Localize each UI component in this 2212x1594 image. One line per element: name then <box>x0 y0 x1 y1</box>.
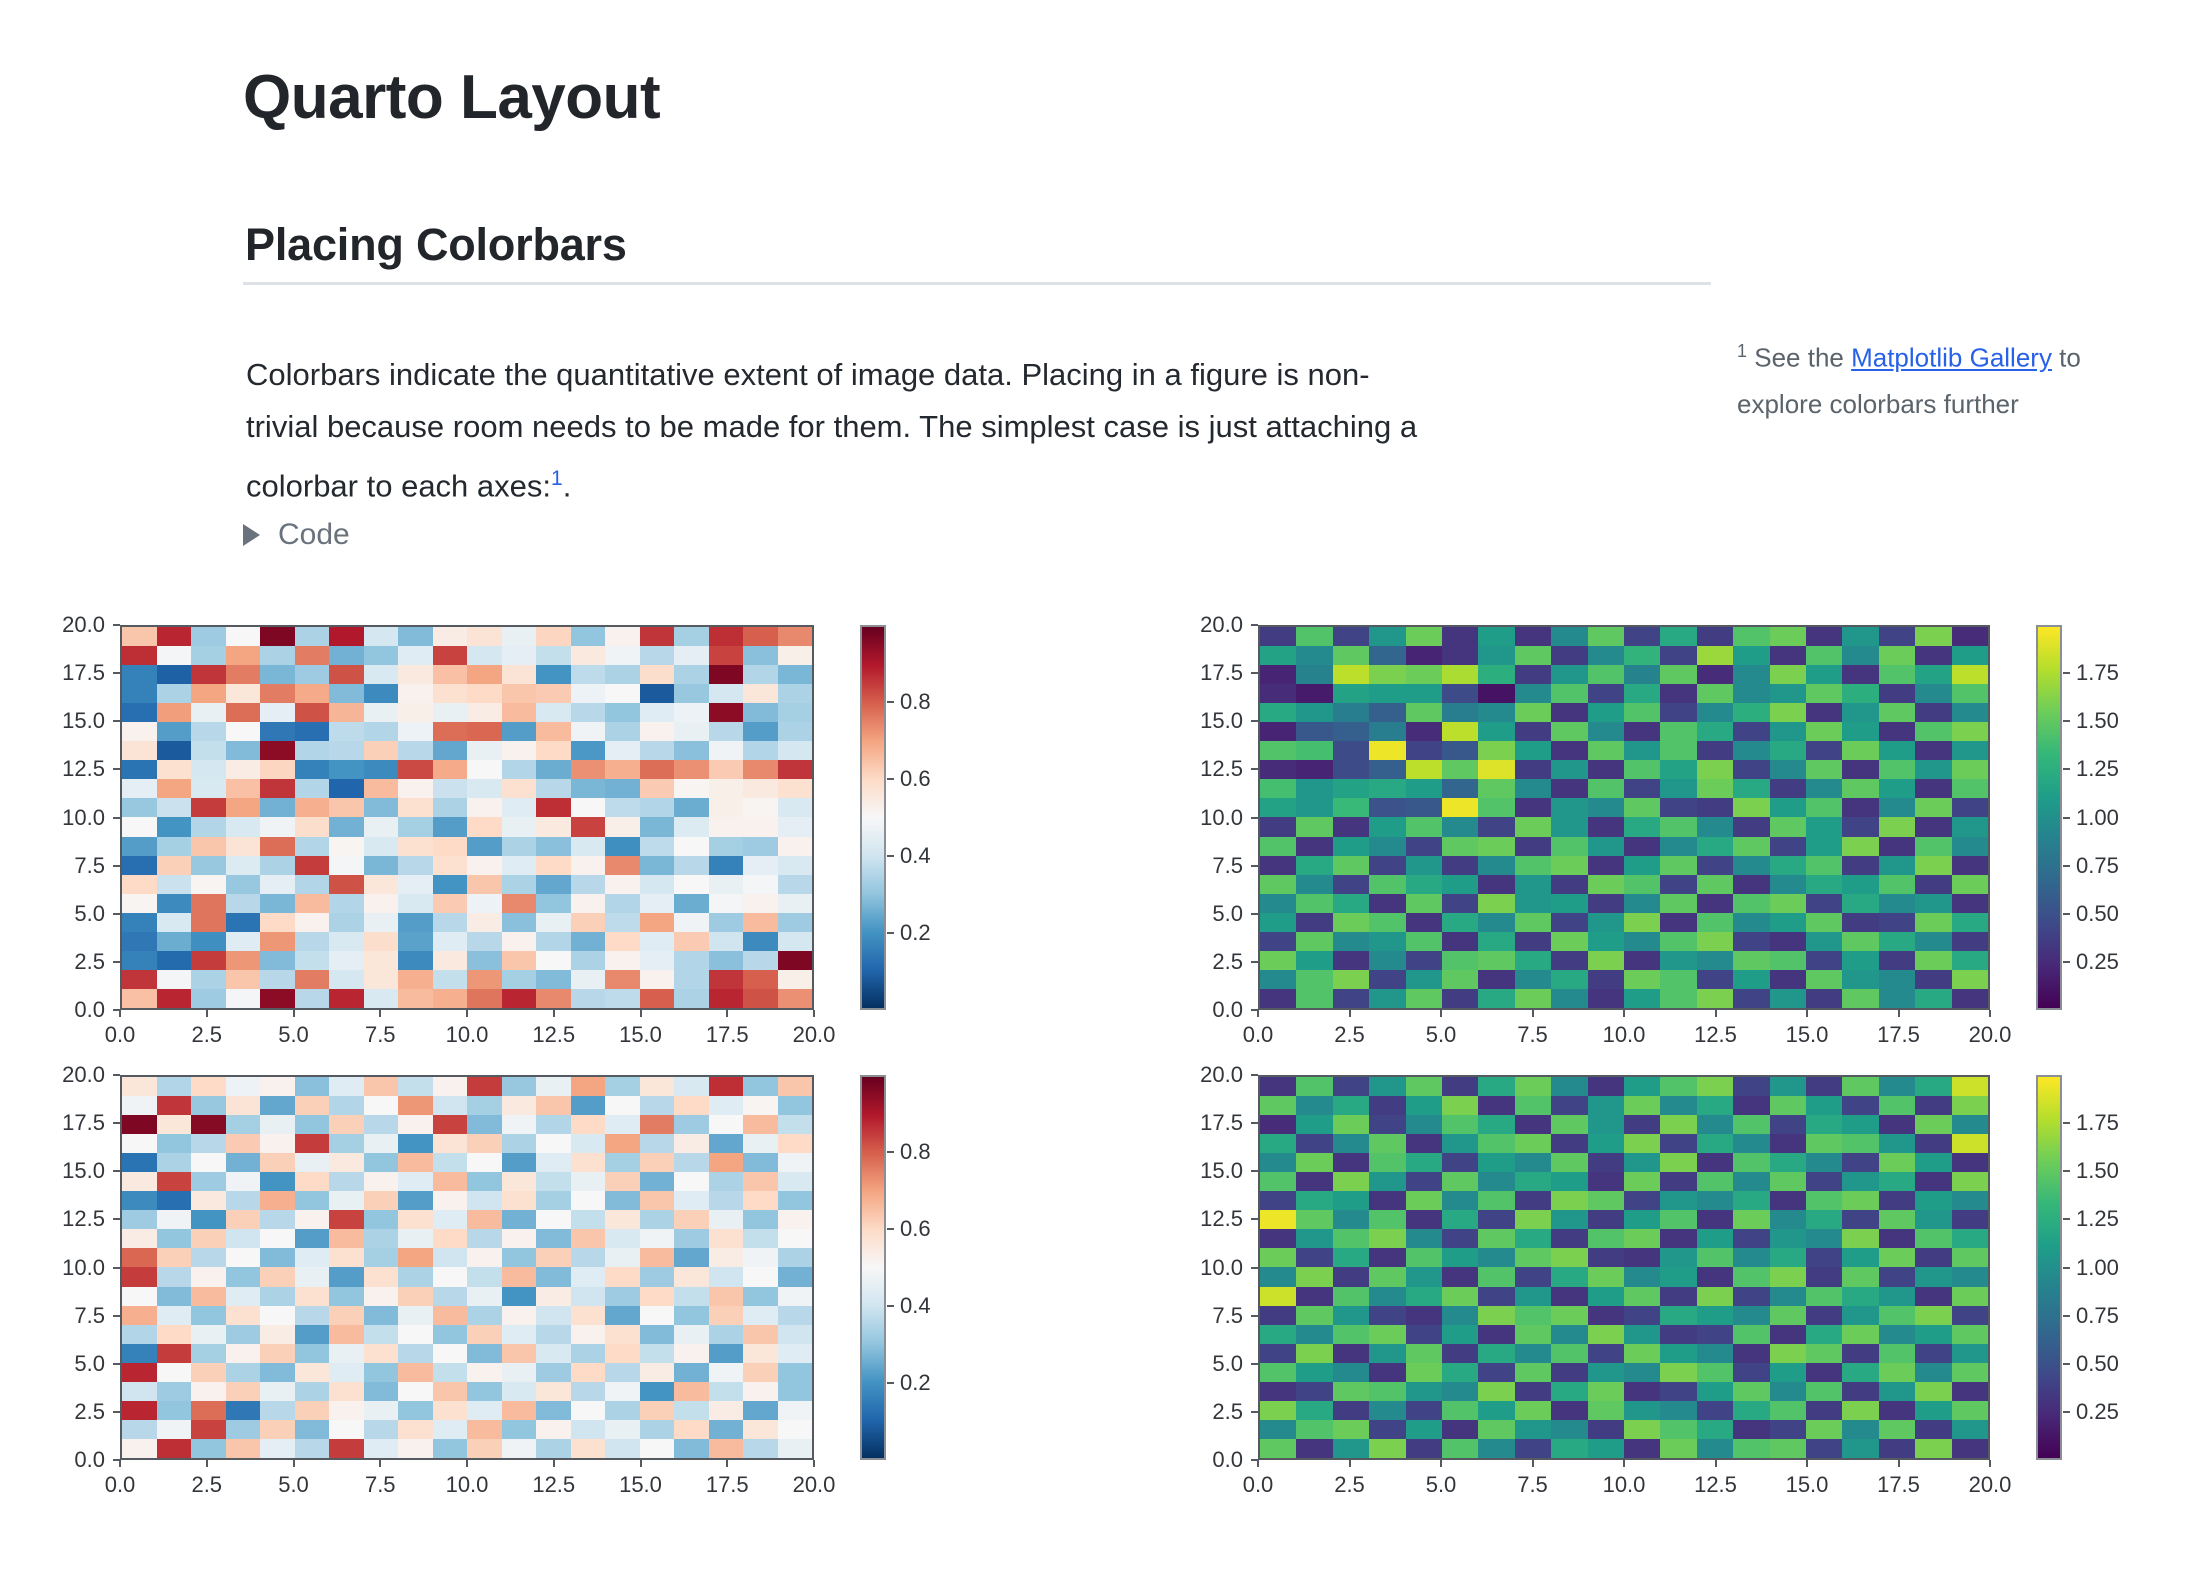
heatmap-cell <box>536 646 571 665</box>
x-axis-tick-label: 10.0 <box>446 1022 489 1048</box>
heatmap-cell <box>571 1248 606 1267</box>
heatmap-cell <box>571 1267 606 1286</box>
heatmap-cell <box>191 1363 226 1382</box>
heatmap-cell <box>1406 1344 1442 1363</box>
x-axis-tickmark <box>1715 1010 1717 1017</box>
heatmap-cell <box>364 1191 399 1210</box>
heatmap-cell <box>1624 703 1660 722</box>
heatmap-cell <box>1697 1096 1733 1115</box>
heatmap-cell <box>398 894 433 913</box>
heatmap-cell <box>122 970 157 989</box>
heatmap-cell <box>1660 913 1696 932</box>
heatmap-cell <box>1588 1267 1624 1286</box>
heatmap-cell <box>709 1420 744 1439</box>
heatmap-cell <box>1770 741 1806 760</box>
heatmap-cell <box>260 760 295 779</box>
heatmap-cell <box>778 665 813 684</box>
heatmap-cell <box>1733 646 1769 665</box>
colorbar-tick-label: 0.2 <box>900 920 931 946</box>
heatmap-cell <box>743 1325 778 1344</box>
heatmap-cell <box>191 856 226 875</box>
heatmap-cell <box>122 1096 157 1115</box>
heatmap-cell <box>1660 817 1696 836</box>
heatmap-cell <box>122 1077 157 1096</box>
heatmap-cell <box>1806 760 1842 779</box>
heatmap-cell <box>1952 646 1988 665</box>
axes-area <box>1258 1075 1990 1460</box>
heatmap-cell <box>398 1096 433 1115</box>
heatmap-cell <box>295 913 330 932</box>
heatmap-cell <box>1515 627 1551 646</box>
y-axis-tickmark <box>113 1363 120 1365</box>
x-axis-tick-label: 7.5 <box>1517 1022 1548 1048</box>
y-axis-tickmark <box>1251 817 1258 819</box>
heatmap-cell <box>157 1287 192 1306</box>
heatmap-cell <box>1515 970 1551 989</box>
colorbar-tick-label: 1.00 <box>2076 1255 2119 1281</box>
heatmap-cell <box>1915 722 1951 741</box>
y-axis-tickmark <box>113 1267 120 1269</box>
heatmap-cell <box>1296 1096 1332 1115</box>
y-axis-tickmark <box>1251 1218 1258 1220</box>
heatmap-cell <box>1624 856 1660 875</box>
heatmap-cell <box>364 856 399 875</box>
heatmap-cell <box>260 856 295 875</box>
heatmap-cell <box>1260 1115 1296 1134</box>
heatmap-cell <box>1879 703 1915 722</box>
heatmap-cell <box>1333 627 1369 646</box>
heatmap-cell <box>191 1172 226 1191</box>
y-axis-tick-label: 0.0 <box>1163 1447 1243 1473</box>
heatmap-cell <box>1697 1420 1733 1439</box>
heatmap-cell <box>743 875 778 894</box>
heatmap-cell <box>502 1191 537 1210</box>
heatmap-cell <box>605 1420 640 1439</box>
heatmap-cell <box>1296 1382 1332 1401</box>
heatmap-cell <box>1879 1401 1915 1420</box>
heatmap-cell <box>640 722 675 741</box>
heatmap-cell <box>191 1229 226 1248</box>
heatmap-cell <box>191 894 226 913</box>
y-axis-tick-label: 5.0 <box>1163 1351 1243 1377</box>
heatmap-cell <box>364 646 399 665</box>
code-fold-toggle[interactable]: Code <box>243 518 350 552</box>
heatmap-cell <box>1915 665 1951 684</box>
heatmap-cell <box>674 665 709 684</box>
heatmap-cell <box>226 798 261 817</box>
heatmap-cell <box>1915 1420 1951 1439</box>
heatmap-cell <box>1915 817 1951 836</box>
y-axis-tick-label: 20.0 <box>1163 1062 1243 1088</box>
heatmap-cell <box>709 837 744 856</box>
heatmap-cell <box>1842 779 1878 798</box>
heatmap-cell <box>1333 703 1369 722</box>
heatmap-cell <box>1478 1134 1514 1153</box>
heatmap-cell <box>1842 798 1878 817</box>
heatmap-cell <box>467 1401 502 1420</box>
heatmap-cell <box>398 779 433 798</box>
heatmap-cell <box>467 684 502 703</box>
heatmap-cell <box>1588 875 1624 894</box>
heatmap-cell <box>1260 1267 1296 1286</box>
heatmap-cell <box>605 1306 640 1325</box>
heatmap-cell <box>1588 1401 1624 1420</box>
heatmap-cell <box>536 837 571 856</box>
heatmap-cell <box>1260 627 1296 646</box>
heatmap-cell <box>1588 932 1624 951</box>
heatmap-cell <box>1260 684 1296 703</box>
heatmap-cell <box>502 1325 537 1344</box>
heatmap-cell <box>1478 1439 1514 1458</box>
heatmap-cell <box>571 1439 606 1458</box>
heatmap-cell <box>1806 703 1842 722</box>
heatmap-cell <box>1551 856 1587 875</box>
heatmap-cell <box>1697 875 1733 894</box>
heatmap-cell <box>536 760 571 779</box>
heatmap-cell <box>571 1306 606 1325</box>
heatmap-cell <box>191 684 226 703</box>
x-axis-tick-label: 10.0 <box>446 1472 489 1498</box>
heatmap-cell <box>1915 798 1951 817</box>
heatmap-cell <box>536 1210 571 1229</box>
heatmap-cell <box>1260 665 1296 684</box>
heatmap-cell <box>364 665 399 684</box>
heatmap-cell <box>1915 1382 1951 1401</box>
heatmap-cell <box>536 798 571 817</box>
heatmap-cell <box>1369 741 1405 760</box>
heatmap-cell <box>398 1210 433 1229</box>
heatmap-cell <box>571 1210 606 1229</box>
heatmap-cell <box>1915 1325 1951 1344</box>
heatmap-cell <box>157 1191 192 1210</box>
heatmap-cell <box>1770 1229 1806 1248</box>
heatmap-cell <box>1660 1229 1696 1248</box>
heatmap-cell <box>1770 1306 1806 1325</box>
heatmap-cell <box>1952 1077 1988 1096</box>
heatmap-cell <box>433 1401 468 1420</box>
heatmap-cell <box>1624 989 1660 1008</box>
heatmap-cell <box>1842 741 1878 760</box>
heatmap-cell <box>260 1134 295 1153</box>
heatmap-cell <box>709 1134 744 1153</box>
heatmap-cell <box>122 684 157 703</box>
heatmap-cell <box>1770 1210 1806 1229</box>
y-axis-tick-label: 17.5 <box>1163 1110 1243 1136</box>
heatmap-cell <box>329 646 364 665</box>
heatmap-cell <box>1733 1191 1769 1210</box>
heatmap-cell <box>709 1325 744 1344</box>
heatmap-cell <box>1551 760 1587 779</box>
heatmap-cell <box>1478 1210 1514 1229</box>
heatmap-cell <box>1260 875 1296 894</box>
x-axis-tickmark <box>119 1460 121 1467</box>
heatmap-cell <box>778 837 813 856</box>
heatmap-cell <box>1369 1267 1405 1286</box>
heatmap-cell <box>709 1077 744 1096</box>
heatmap-cell <box>640 1172 675 1191</box>
heatmap-cell <box>122 1267 157 1286</box>
heatmap-cell <box>709 779 744 798</box>
heatmap-cell <box>364 798 399 817</box>
heatmap-cell <box>157 1439 192 1458</box>
heatmap-cell <box>640 798 675 817</box>
heatmap-cell <box>1952 627 1988 646</box>
heatmap-cell <box>640 684 675 703</box>
heatmap-cell <box>1733 1382 1769 1401</box>
heatmap-cell <box>1369 1344 1405 1363</box>
heatmap-cell <box>502 932 537 951</box>
heatmap-cell <box>1697 951 1733 970</box>
heatmap-cell <box>778 1267 813 1286</box>
heatmap-cell <box>1515 989 1551 1008</box>
heatmap-cell <box>778 1077 813 1096</box>
heatmap-cell <box>502 989 537 1008</box>
heatmap-cell <box>1406 665 1442 684</box>
heatmap-cell <box>122 951 157 970</box>
heatmap-cell <box>605 627 640 646</box>
heatmap-cell <box>1770 837 1806 856</box>
y-axis-tick-label: 0.0 <box>1163 997 1243 1023</box>
heatmap-cell <box>1515 1363 1551 1382</box>
heatmap-cell <box>1406 1439 1442 1458</box>
heatmap-cell <box>1406 837 1442 856</box>
heatmap-cell <box>1952 1401 1988 1420</box>
heatmap-cell <box>1333 1363 1369 1382</box>
heatmap-cell <box>1333 1248 1369 1267</box>
heatmap-cell <box>640 1401 675 1420</box>
heatmap-cell <box>1588 1306 1624 1325</box>
heatmap-cell <box>1551 1115 1587 1134</box>
heatmap-cell <box>1296 837 1332 856</box>
heatmap-cell <box>1952 1325 1988 1344</box>
heatmap-cell <box>260 1420 295 1439</box>
heatmap-cell <box>1406 894 1442 913</box>
heatmap-cell <box>467 1382 502 1401</box>
heatmap-cell <box>1624 1382 1660 1401</box>
heatmap-cell <box>1260 856 1296 875</box>
heatmap-cell <box>1369 665 1405 684</box>
heatmap-cell <box>709 817 744 836</box>
heatmap-cell <box>502 1363 537 1382</box>
y-axis-tick-label: 2.5 <box>1163 1399 1243 1425</box>
heatmap-cell <box>1588 1191 1624 1210</box>
heatmap-cell <box>398 798 433 817</box>
heatmap-cell <box>1406 1172 1442 1191</box>
heatmap-cell <box>1697 1287 1733 1306</box>
y-axis-tick-label: 17.5 <box>25 660 105 686</box>
heatmap-cell <box>122 932 157 951</box>
heatmap-cell <box>1588 1344 1624 1363</box>
heatmap-cell <box>1806 1306 1842 1325</box>
heatmap-cell <box>1624 1439 1660 1458</box>
heatmap-cell <box>1879 1229 1915 1248</box>
heatmap-cell <box>1624 1134 1660 1153</box>
heatmap-cell <box>364 1210 399 1229</box>
heatmap-cell <box>1842 989 1878 1008</box>
heatmap-cell <box>1879 1439 1915 1458</box>
heatmap-cell <box>778 1344 813 1363</box>
heatmap-cell <box>743 1401 778 1420</box>
heatmap-cell <box>295 932 330 951</box>
heatmap-cell <box>1551 1077 1587 1096</box>
heatmap-cell <box>709 1344 744 1363</box>
heatmap-cell <box>1806 970 1842 989</box>
heatmap-cell <box>1442 1248 1478 1267</box>
heatmap-cell <box>1478 741 1514 760</box>
heatmap-cell <box>1770 875 1806 894</box>
heatmap-cell <box>571 760 606 779</box>
heatmap-cell <box>1697 817 1733 836</box>
y-axis-tickmark <box>113 817 120 819</box>
heatmap-cell <box>674 1077 709 1096</box>
y-axis-tick-label: 0.0 <box>25 1447 105 1473</box>
heatmap-cell <box>157 684 192 703</box>
y-axis-tickmark <box>113 624 120 626</box>
heatmap-cell <box>1915 1191 1951 1210</box>
heatmap-cell <box>1624 817 1660 836</box>
heatmap-cell <box>1842 1172 1878 1191</box>
heatmap-cell <box>1697 856 1733 875</box>
x-axis-tick-label: 17.5 <box>1877 1022 1920 1048</box>
heatmap-cell <box>1551 1134 1587 1153</box>
heatmap-cell <box>1842 970 1878 989</box>
colorbar-tickmark <box>887 1305 894 1307</box>
heatmap-cell <box>1842 1420 1878 1439</box>
heatmap-cell <box>605 1267 640 1286</box>
colorbar-tickmark <box>2063 1267 2070 1269</box>
heatmap-cell <box>467 875 502 894</box>
heatmap-cell <box>260 684 295 703</box>
heatmap-cell <box>226 1420 261 1439</box>
paragraph-text: Colorbars indicate the quantitative exte… <box>246 357 1417 503</box>
heatmap-cell <box>433 817 468 836</box>
heatmap-cell <box>122 913 157 932</box>
heatmap-cell <box>1515 913 1551 932</box>
y-axis-tickmark <box>113 1074 120 1076</box>
heatmap-cell <box>502 875 537 894</box>
heatmap-cell <box>1952 856 1988 875</box>
x-axis-tickmark <box>293 1460 295 1467</box>
heatmap-cell <box>191 989 226 1008</box>
x-axis-tickmark <box>1898 1010 1900 1017</box>
heatmap-cell <box>1333 1287 1369 1306</box>
heatmap-cell <box>433 1077 468 1096</box>
heatmap-cell <box>605 1287 640 1306</box>
x-axis-tick-label: 15.0 <box>619 1472 662 1498</box>
heatmap-cell <box>536 1267 571 1286</box>
heatmap-cell <box>157 989 192 1008</box>
heatmap-cell <box>329 989 364 1008</box>
heatmap-cell <box>743 837 778 856</box>
heatmap-cell <box>364 703 399 722</box>
heatmap-cell <box>260 1344 295 1363</box>
heatmap-cell <box>1515 646 1551 665</box>
heatmap-cell <box>1588 1420 1624 1439</box>
heatmap-cell <box>122 1134 157 1153</box>
heatmap-cell <box>329 1115 364 1134</box>
heatmap-cell <box>1260 1344 1296 1363</box>
y-axis-tick-label: 2.5 <box>1163 949 1243 975</box>
heatmap-cell <box>157 646 192 665</box>
heatmap-cell <box>1952 1115 1988 1134</box>
heatmap-cell <box>467 1191 502 1210</box>
heatmap-cell <box>536 1306 571 1325</box>
heatmap-cell <box>1551 817 1587 836</box>
heatmap-cell <box>674 932 709 951</box>
heatmap-cell <box>502 817 537 836</box>
heatmap-cell <box>1478 875 1514 894</box>
heatmap-cell <box>1588 627 1624 646</box>
heatmap-cell <box>1879 665 1915 684</box>
heatmap-cell <box>191 913 226 932</box>
heatmap-cell <box>122 1363 157 1382</box>
heatmap-cell <box>1915 760 1951 779</box>
heatmap-cell <box>1588 1210 1624 1229</box>
heatmap-cell <box>1770 1401 1806 1420</box>
heatmap-cell <box>1952 665 1988 684</box>
heatmap-cell <box>157 1267 192 1286</box>
heatmap-cell <box>1733 1401 1769 1420</box>
heatmap-cell <box>1333 951 1369 970</box>
heatmap-cell <box>1296 1267 1332 1286</box>
y-axis-tickmark <box>113 1218 120 1220</box>
heatmap-cell <box>640 1363 675 1382</box>
heatmap-cell <box>433 1382 468 1401</box>
heatmap-cell <box>674 703 709 722</box>
x-axis-tickmark <box>1257 1010 1259 1017</box>
heatmap-cell <box>1806 1153 1842 1172</box>
heatmap-cell <box>1660 856 1696 875</box>
heatmap-cell <box>226 817 261 836</box>
heatmap-grid <box>122 1077 812 1458</box>
heatmap-grid <box>122 627 812 1008</box>
matplotlib-gallery-link[interactable]: Matplotlib Gallery <box>1851 343 2052 373</box>
heatmap-cell <box>1369 703 1405 722</box>
heatmap-cell <box>1915 1172 1951 1191</box>
heatmap-cell <box>1770 1077 1806 1096</box>
heatmap-cell <box>1369 1306 1405 1325</box>
heatmap-cell <box>1369 1363 1405 1382</box>
heatmap-cell <box>1660 1344 1696 1363</box>
footnote-reference-link[interactable]: 1 <box>551 467 563 490</box>
y-axis-tick-label: 15.0 <box>25 708 105 734</box>
heatmap-cell <box>1442 1134 1478 1153</box>
heatmap-cell <box>1515 837 1551 856</box>
y-axis-tickmark <box>1251 913 1258 915</box>
heatmap-cell <box>191 1344 226 1363</box>
colorbar-tickmark <box>2063 1218 2070 1220</box>
heatmap-cell <box>709 1191 744 1210</box>
heatmap-cell <box>1915 951 1951 970</box>
heatmap-cell <box>1842 627 1878 646</box>
heatmap-cell <box>1588 1382 1624 1401</box>
heatmap-cell <box>1442 1287 1478 1306</box>
heatmap-cell <box>433 1325 468 1344</box>
heatmap-cell <box>1442 760 1478 779</box>
heatmap-cell <box>536 932 571 951</box>
heatmap-cell <box>1770 1287 1806 1306</box>
heatmap-cell <box>122 779 157 798</box>
heatmap-cell <box>226 703 261 722</box>
y-axis-tick-label: 15.0 <box>25 1158 105 1184</box>
heatmap-cell <box>1406 798 1442 817</box>
heatmap-cell <box>364 932 399 951</box>
heatmap-cell <box>1624 1420 1660 1439</box>
heatmap-cell <box>191 741 226 760</box>
heatmap-cell <box>1660 1267 1696 1286</box>
heatmap-cell <box>1369 989 1405 1008</box>
heatmap-cell <box>536 817 571 836</box>
